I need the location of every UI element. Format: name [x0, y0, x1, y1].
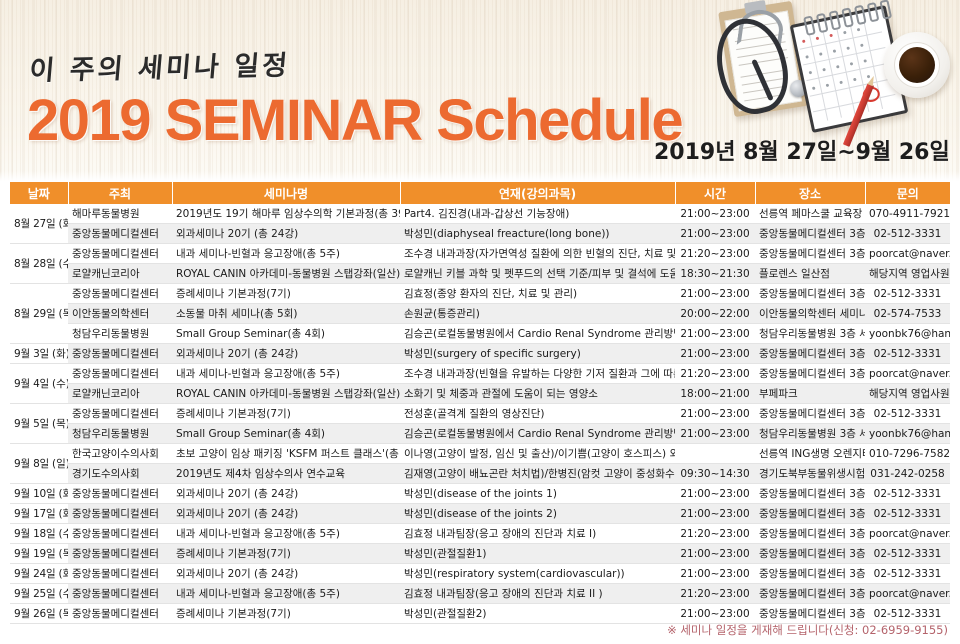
cell-seminar: 증례세미나 기본과정(7기)	[172, 544, 400, 564]
cell-seminar: 증례세미나 기본과정(7기)	[172, 604, 400, 624]
cell-seminar: ROYAL CANIN 아카데미-동물병원 스탭강좌(일산)(2회차)	[172, 384, 400, 404]
cell-time: 21:00~23:00	[675, 324, 755, 344]
table-row: 경기도수의사회2019년도 제4차 임상수의사 연수교육김재영(고양이 배뇨곤란…	[10, 464, 950, 484]
cell-speaker: 전성훈(골격계 질환의 영상진단)	[400, 404, 675, 424]
cell-speaker: 박성민(관절질환1)	[400, 544, 675, 564]
table-row: 9월 10일(화)중앙동물메디컬센터외과세미나 20기 (총 24강)박성민(d…	[10, 484, 950, 504]
day-of-week: (화)	[59, 218, 69, 230]
column-header-seminar: 세미나명	[172, 182, 400, 204]
cell-time: 20:00~22:00	[675, 304, 755, 324]
day-of-week: (화)	[59, 508, 69, 520]
cell-date: 9월 8일(일)	[10, 444, 68, 484]
cell-contact: poorcat@naver.com	[865, 524, 950, 544]
column-header-date: 날짜	[10, 182, 68, 204]
cell-speaker: 손원균(통증관리)	[400, 304, 675, 324]
cell-date: 9월 26일(목)	[10, 604, 68, 624]
cell-date: 8월 28일(수)	[10, 244, 68, 284]
day-of-week: (수)	[59, 528, 69, 540]
column-header-place: 장소	[755, 182, 865, 204]
cell-time	[675, 444, 755, 464]
cell-time: 21:00~23:00	[675, 564, 755, 584]
cell-place: 중앙동물메디컬센터 3층 세미나실	[755, 504, 865, 524]
cell-time: 21:00~23:00	[675, 484, 755, 504]
date-value: 9월 4일	[14, 378, 49, 390]
cell-place: 플로렌스 일산점	[755, 264, 865, 284]
cell-speaker: 박성민(관절질환2)	[400, 604, 675, 624]
cell-host: 중앙동물메디컬센터	[68, 504, 172, 524]
table-row: 9월 4일(수)중앙동물메디컬센터내과 세미나-빈혈과 응고장애(총 5주)조수…	[10, 364, 950, 384]
cell-time: 21:20~23:00	[675, 584, 755, 604]
cell-place: 부페파크	[755, 384, 865, 404]
schedule-table-wrapper: 날짜 주최 세미나명 연재(강의과목) 시간 장소 문의 8월 27일(화)해마…	[10, 182, 950, 624]
cell-place: 이안동물의학센터 세미나실	[755, 304, 865, 324]
cell-contact: 031-242-0258	[865, 464, 950, 484]
day-of-week: (목)	[52, 418, 68, 430]
cell-time: 21:00~23:00	[675, 604, 755, 624]
coffee-liquid-icon	[899, 47, 935, 83]
date-value: 9월 24일	[14, 568, 56, 580]
cell-date: 9월 24일(화)	[10, 564, 68, 584]
column-header-speaker: 연재(강의과목)	[400, 182, 675, 204]
cell-contact: 070-4911-7921	[865, 204, 950, 224]
cell-time: 18:30~21:30	[675, 264, 755, 284]
table-row: 9월 8일(일)한국고양이수의사회초보 고양이 임상 패키징 'KSFM 퍼스트…	[10, 444, 950, 464]
cell-time: 21:00~23:00	[675, 344, 755, 364]
cell-seminar: 내과 세미나-빈혈과 응고장애(총 5주)	[172, 364, 400, 384]
cell-contact: 02-512-3331	[865, 544, 950, 564]
cell-host: 중앙동물메디컬센터	[68, 604, 172, 624]
cell-host: 중앙동물메디컬센터	[68, 284, 172, 304]
cell-speaker: 조수경 내과과장(자가면역성 질환에 의한 빈혈의 진단, 치료 및 예후 )	[400, 244, 675, 264]
cell-contact: 02-574-7533	[865, 304, 950, 324]
cell-seminar: 외과세미나 20기 (총 24강)	[172, 484, 400, 504]
cell-time: 09:30~14:30	[675, 464, 755, 484]
cell-time: 21:00~23:00	[675, 224, 755, 244]
table-row: 이안동물의학센터소동물 마취 세미나(총 5회)손원균(통증관리)20:00~2…	[10, 304, 950, 324]
cell-host: 로얄캐닌코리아	[68, 384, 172, 404]
cell-place: 중앙동물메디컬센터 3층 세미나실	[755, 484, 865, 504]
table-row: 9월 25일(수)중앙동물메디컬센터내과 세미나-빈혈과 응고장애(총 5주)김…	[10, 584, 950, 604]
cell-seminar: Small Group Seminar(총 4회)	[172, 324, 400, 344]
cell-contact: yoonbk76@hanmail.net	[865, 324, 950, 344]
table-row: 중앙동물메디컬센터외과세미나 20기 (총 24강)박성민(diaphyseal…	[10, 224, 950, 244]
table-row: 청담우리동물병원Small Group Seminar(총 4회)김승곤(로컬동…	[10, 424, 950, 444]
cell-time: 21:00~23:00	[675, 544, 755, 564]
date-value: 9월 5일	[14, 418, 49, 430]
table-row: 8월 28일(수)중앙동물메디컬센터내과 세미나-빈혈과 응고장애(총 5주)조…	[10, 244, 950, 264]
cell-place: 중앙동물메디컬센터 3층 세미나실	[755, 224, 865, 244]
cell-host: 중앙동물메디컬센터	[68, 344, 172, 364]
cell-place: 중앙동물메디컬센터 3층 세미나실	[755, 584, 865, 604]
day-of-week: (수)	[59, 258, 69, 270]
date-value: 9월 17일	[14, 508, 56, 520]
cell-time: 21:20~23:00	[675, 364, 755, 384]
cell-contact: poorcat@naver.com	[865, 364, 950, 384]
table-row: 9월 19일(목)중앙동물메디컬센터증례세미나 기본과정(7기)박성민(관절질환…	[10, 544, 950, 564]
cell-place: 중앙동물메디컬센터 3층 세미나실	[755, 244, 865, 264]
cell-seminar: 외과세미나 20기 (총 24강)	[172, 564, 400, 584]
day-of-week: (일)	[52, 458, 68, 470]
cell-time: 21:00~23:00	[675, 424, 755, 444]
cell-place: 중앙동물메디컬센터 3층 세미나실	[755, 604, 865, 624]
cell-contact: 02-512-3331	[865, 284, 950, 304]
day-of-week: (수)	[59, 588, 69, 600]
page-title: 2019 SEMINAR Schedule	[27, 92, 682, 150]
day-of-week: (목)	[59, 548, 69, 560]
cell-speaker: 김효정 내과팀장(응고 장애의 진단과 치료 I)	[400, 524, 675, 544]
cell-host: 중앙동물메디컬센터	[68, 224, 172, 244]
table-row: 9월 5일(목)중앙동물메디컬센터증례세미나 기본과정(7기)전성훈(골격계 질…	[10, 404, 950, 424]
cell-host: 중앙동물메디컬센터	[68, 484, 172, 504]
cell-date: 9월 18일(수)	[10, 524, 68, 544]
schedule-table: 날짜 주최 세미나명 연재(강의과목) 시간 장소 문의 8월 27일(화)해마…	[10, 182, 950, 624]
cell-place: 청담우리동물병원 3층 세미나실	[755, 424, 865, 444]
date-value: 8월 27일	[14, 218, 56, 230]
cell-host: 청담우리동물병원	[68, 424, 172, 444]
cell-host: 해마루동물병원	[68, 204, 172, 224]
column-header-time: 시간	[675, 182, 755, 204]
cell-contact: 02-512-3331	[865, 604, 950, 624]
cell-place: 중앙동물메디컬센터 3층 세미나실	[755, 364, 865, 384]
header-korean-subtitle: 이 주의 세미나 일정	[28, 43, 292, 87]
cell-speaker: 김효정(종양 환자의 진단, 치료 및 관리)	[400, 284, 675, 304]
schedule-table-body: 8월 27일(화)해마루동물병원2019년도 19기 해마루 임상수의학 기본과…	[10, 204, 950, 624]
cell-seminar: 외과세미나 20기 (총 24강)	[172, 224, 400, 244]
cell-date: 9월 25일(수)	[10, 584, 68, 604]
cell-host: 한국고양이수의사회	[68, 444, 172, 464]
cell-seminar: 2019년도 제4차 임상수의사 연수교육	[172, 464, 400, 484]
cell-contact: 02-512-3331	[865, 224, 950, 244]
cell-contact: 02-512-3331	[865, 504, 950, 524]
cell-host: 경기도수의사회	[68, 464, 172, 484]
cell-place: 중앙동물메디컬센터 3층 세미나실	[755, 524, 865, 544]
page-header: 이 주의 세미나 일정 2019 SEMINAR Schedule 2019년 …	[0, 0, 960, 181]
cell-contact: 해당지역 영업사원	[865, 264, 950, 284]
cell-place: 중앙동물메디컬센터 3층 세미나실	[755, 544, 865, 564]
day-of-week: (목)	[59, 308, 69, 320]
table-row: 9월 3일(화)중앙동물메디컬센터외과세미나 20기 (총 24강)박성민(su…	[10, 344, 950, 364]
date-value: 9월 25일	[14, 588, 56, 600]
cell-speaker: 김재영(고양이 배뇨곤란 처치법)/한병진(암컷 고양이 중성화수술) 외	[400, 464, 675, 484]
cell-time: 21:00~23:00	[675, 284, 755, 304]
table-row: 8월 27일(화)해마루동물병원2019년도 19기 해마루 임상수의학 기본과…	[10, 204, 950, 224]
cell-seminar: 내과 세미나-빈혈과 응고장애(총 5주)	[172, 584, 400, 604]
cell-speaker: 박성민(disease of the joints 1)	[400, 484, 675, 504]
cell-seminar: 증례세미나 기본과정(7기)	[172, 404, 400, 424]
day-of-week: (화)	[59, 488, 69, 500]
cell-time: 21:00~23:00	[675, 204, 755, 224]
day-of-week: (화)	[52, 348, 68, 360]
cell-speaker: 박성민(surgery of specific surgery)	[400, 344, 675, 364]
cell-date: 9월 17일(화)	[10, 504, 68, 524]
cell-host: 중앙동물메디컬센터	[68, 244, 172, 264]
date-value: 9월 3일	[14, 348, 49, 360]
cell-seminar: 외과세미나 20기 (총 24강)	[172, 504, 400, 524]
cell-place: 중앙동물메디컬센터 3층 세미나실	[755, 404, 865, 424]
day-of-week: (수)	[52, 378, 68, 390]
cell-seminar: Small Group Seminar(총 4회)	[172, 424, 400, 444]
table-row: 9월 17일(화)중앙동물메디컬센터외과세미나 20기 (총 24강)박성민(d…	[10, 504, 950, 524]
column-header-contact: 문의	[865, 182, 950, 204]
cell-contact: 02-512-3331	[865, 484, 950, 504]
cell-contact: 02-512-3331	[865, 404, 950, 424]
cell-seminar: 외과세미나 20기 (총 24강)	[172, 344, 400, 364]
table-row: 9월 24일(화)중앙동물메디컬센터외과세미나 20기 (총 24강)박성민(r…	[10, 564, 950, 584]
cell-contact: yoonbk76@hanmail.net	[865, 424, 950, 444]
cell-speaker: 로얄캐닌 키블 과학 및 펫푸드의 선택 기준/피부 및 결석에 도움이 되는 …	[400, 264, 675, 284]
cell-time: 21:20~23:00	[675, 244, 755, 264]
cell-place: 청담우리동물병원 3층 세미나실	[755, 324, 865, 344]
cell-place: 중앙동물메디컬센터 3층 세미나실	[755, 564, 865, 584]
column-header-host: 주최	[68, 182, 172, 204]
cell-host: 중앙동물메디컬센터	[68, 404, 172, 424]
header-date-range: 2019년 8월 27일~9월 26일	[654, 134, 950, 166]
cell-speaker: 박성민(disease of the joints 2)	[400, 504, 675, 524]
cell-speaker: 박성민(respiratory system(cardiovascular))	[400, 564, 675, 584]
cell-speaker: Part4. 김진경(내과-갑상선 기능장애)	[400, 204, 675, 224]
footer-note: ※ 세미나 일정을 게재해 드립니다(신청: 02-6959-9155)	[667, 622, 948, 638]
cell-speaker: 김승곤(로컬동물병원에서 Cardio Renal Syndrome 관리방법)	[400, 424, 675, 444]
date-value: 9월 26일	[14, 608, 56, 620]
cell-speaker: 김승곤(로컬동물병원에서 Cardio Renal Syndrome 관리방법)	[400, 324, 675, 344]
cell-host: 중앙동물메디컬센터	[68, 524, 172, 544]
cell-time: 21:00~23:00	[675, 504, 755, 524]
cell-host: 중앙동물메디컬센터	[68, 564, 172, 584]
cell-host: 이안동물의학센터	[68, 304, 172, 324]
date-value: 9월 19일	[14, 548, 56, 560]
cell-date: 9월 19일(목)	[10, 544, 68, 564]
table-row: 로얄캐닌코리아ROYAL CANIN 아카데미-동물병원 스탭강좌(일산)(1회…	[10, 264, 950, 284]
cell-seminar: 증례세미나 기본과정(7기)	[172, 284, 400, 304]
cell-place: 선릉역 ING생명 오렌지타워	[755, 444, 865, 464]
cell-date: 9월 5일(목)	[10, 404, 68, 444]
cell-time: 21:20~23:00	[675, 524, 755, 544]
cell-speaker: 박성민(diaphyseal freacture(long bone))	[400, 224, 675, 244]
cell-contact: 010-7296-7582	[865, 444, 950, 464]
cell-contact: 02-512-3331	[865, 564, 950, 584]
cell-speaker: 소화기 및 체중과 관절에 도움이 되는 영양소	[400, 384, 675, 404]
cell-speaker: 이나영(고양이 발정, 임신 및 출산)/이기쁨(고양이 호스피스) 외	[400, 444, 675, 464]
cell-contact: poorcat@naver.com	[865, 584, 950, 604]
cell-date: 9월 4일(수)	[10, 364, 68, 404]
date-value: 8월 28일	[14, 258, 56, 270]
cell-place: 경기도북부동물위생시험소 회의실	[755, 464, 865, 484]
cell-seminar: 내과 세미나-빈혈과 응고장애(총 5주)	[172, 244, 400, 264]
table-row: 9월 26일(목)중앙동물메디컬센터증례세미나 기본과정(7기)박성민(관절질환…	[10, 604, 950, 624]
cell-host: 중앙동물메디컬센터	[68, 584, 172, 604]
cell-host: 중앙동물메디컬센터	[68, 544, 172, 564]
table-row: 9월 18일(수)중앙동물메디컬센터내과 세미나-빈혈과 응고장애(총 5주)김…	[10, 524, 950, 544]
cell-place: 선릉역 페마스쿨 교육장	[755, 204, 865, 224]
cell-speaker: 조수경 내과과장(빈혈을 유발하는 다양한 기저 질환과 그에 따른 관리 )	[400, 364, 675, 384]
cell-seminar: ROYAL CANIN 아카데미-동물병원 스탭강좌(일산)(1회차)	[172, 264, 400, 284]
cell-host: 로얄캐닌코리아	[68, 264, 172, 284]
cell-place: 중앙동물메디컬센터 3층 세미나실	[755, 344, 865, 364]
date-value: 9월 8일	[14, 458, 49, 470]
cell-speaker: 김효정 내과팀장(응고 장애의 진단과 치료 II )	[400, 584, 675, 604]
date-value: 8월 29일	[14, 308, 56, 320]
cell-time: 21:00~23:00	[675, 404, 755, 424]
cell-host: 중앙동물메디컬센터	[68, 364, 172, 384]
day-of-week: (목)	[59, 608, 69, 620]
cell-host: 청담우리동물병원	[68, 324, 172, 344]
cell-seminar: 소동물 마취 세미나(총 5회)	[172, 304, 400, 324]
table-row: 청담우리동물병원Small Group Seminar(총 4회)김승곤(로컬동…	[10, 324, 950, 344]
cell-contact: poorcat@naver.com	[865, 244, 950, 264]
day-of-week: (화)	[59, 568, 69, 580]
seminar-schedule-page: 이 주의 세미나 일정 2019 SEMINAR Schedule 2019년 …	[0, 0, 960, 644]
table-header-row: 날짜 주최 세미나명 연재(강의과목) 시간 장소 문의	[10, 182, 950, 204]
cell-seminar: 내과 세미나-빈혈과 응고장애(총 5주)	[172, 524, 400, 544]
cell-seminar: 초보 고양이 임상 패키징 'KSFM 퍼스트 클래스'(총 20강)	[172, 444, 400, 464]
table-row: 8월 29일(목)중앙동물메디컬센터증례세미나 기본과정(7기)김효정(종양 환…	[10, 284, 950, 304]
table-row: 로얄캐닌코리아ROYAL CANIN 아카데미-동물병원 스탭강좌(일산)(2회…	[10, 384, 950, 404]
cell-date: 9월 3일(화)	[10, 344, 68, 364]
cell-place: 중앙동물메디컬센터 3층 세미나실	[755, 284, 865, 304]
cell-time: 18:00~21:00	[675, 384, 755, 404]
cell-date: 9월 10일(화)	[10, 484, 68, 504]
date-value: 9월 18일	[14, 528, 56, 540]
cell-contact: 해당지역 영업사원	[865, 384, 950, 404]
cell-date: 8월 27일(화)	[10, 204, 68, 244]
cell-seminar: 2019년도 19기 해마루 임상수의학 기본과정(총 39강좌)	[172, 204, 400, 224]
date-value: 9월 10일	[14, 488, 56, 500]
cell-date: 8월 29일(목)	[10, 284, 68, 344]
cell-contact: 02-512-3331	[865, 344, 950, 364]
